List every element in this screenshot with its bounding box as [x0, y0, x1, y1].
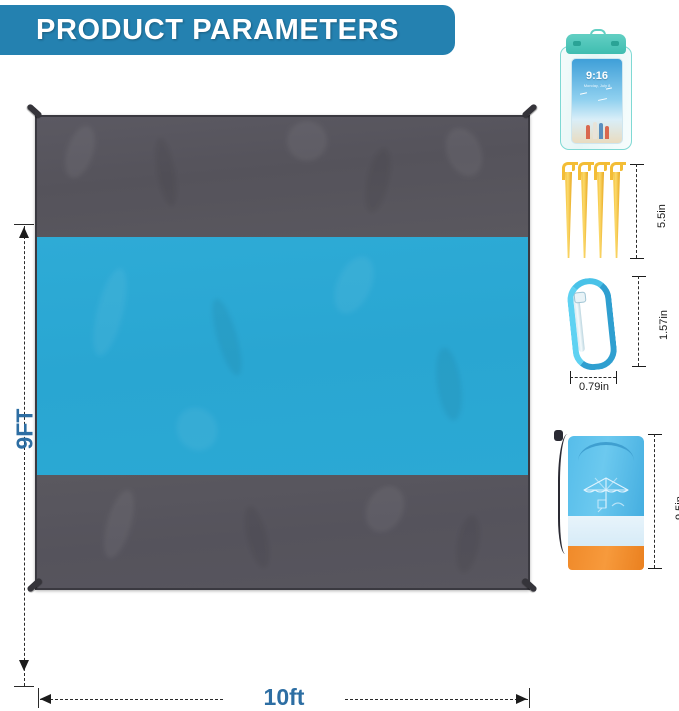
- dimension-tick-top: [14, 224, 34, 225]
- stake-hook-nub: [620, 162, 624, 171]
- dimension-cap-top: [630, 164, 644, 165]
- ground-stakes-group: 5.5in: [556, 162, 674, 262]
- arrow-down-icon: [19, 660, 29, 671]
- phone-screen: 9:16 Monday, July 8: [571, 58, 623, 144]
- bag-shoulder-cord: [558, 434, 582, 554]
- carabiner-height-label: 1.57in: [658, 310, 670, 340]
- stake-shaft: [613, 172, 620, 258]
- dimension-tick-left: [38, 688, 39, 708]
- dimension-line-vertical: [638, 276, 639, 366]
- beach-blanket-illustration: [35, 115, 530, 590]
- accessory-column: 9:16 Monday, July 8: [548, 0, 679, 611]
- dimension-line-vertical: [636, 164, 637, 258]
- blanket-width-dimension: 10ft: [28, 688, 540, 710]
- dimension-cap-bottom: [648, 568, 662, 569]
- carabiner-frame: [565, 276, 618, 372]
- pouch-clasp: [566, 34, 626, 54]
- dimension-cap-top: [632, 276, 646, 277]
- dimension-cap-top: [648, 434, 662, 435]
- carabiner-width-dimension: 0.79in: [570, 372, 634, 396]
- dimension-cap-bottom: [632, 366, 646, 367]
- stake-hook-nub: [572, 162, 576, 171]
- stakes-dimension-label: 5.5in: [656, 204, 668, 228]
- carry-bag-group: 9.5in: [556, 424, 674, 584]
- stake-hook-nub: [604, 162, 608, 171]
- carabiner-screw-lock: [573, 291, 586, 303]
- dimension-tick-right: [529, 688, 530, 708]
- carabiner-group: 1.57in 0.79in: [556, 272, 674, 398]
- beach-figure: [586, 125, 590, 139]
- clasp-hole-left: [573, 41, 581, 46]
- stake-shaft: [565, 172, 572, 258]
- beach-figure: [593, 122, 597, 139]
- blanket-width-label: 10ft: [224, 684, 344, 711]
- blanket-height-dimension: 9FT: [8, 212, 42, 700]
- carry-bag-dimension: 9.5in: [648, 434, 679, 572]
- dimension-line-vertical: [24, 226, 25, 686]
- blanket-bottom-gray-band: [37, 475, 528, 590]
- blanket-middle-blue-band: [37, 237, 528, 475]
- phone-screen-date: Monday, July 8: [572, 83, 622, 88]
- waterproof-phone-pouch: 9:16 Monday, July 8: [560, 32, 632, 150]
- page-title: PRODUCT PARAMETERS: [36, 14, 399, 47]
- stake-hook-nub: [588, 162, 592, 171]
- header-banner: PRODUCT PARAMETERS: [0, 5, 455, 55]
- ground-stake: [610, 162, 623, 258]
- dimension-line-horizontal: [570, 377, 616, 378]
- stake-shaft: [597, 172, 604, 258]
- beach-figure: [599, 123, 603, 139]
- arrow-up-icon: [19, 227, 29, 238]
- carabiner-height-dimension: 1.57in: [632, 276, 676, 368]
- blanket-top-gray-band: [37, 117, 528, 237]
- blanket-figure: 9FT 10ft: [0, 100, 548, 611]
- ground-stake: [594, 162, 607, 258]
- bag-cord-toggle: [554, 430, 563, 441]
- stakes-dimension: 5.5in: [630, 164, 674, 260]
- dimension-line-vertical: [654, 434, 655, 568]
- ground-stake: [562, 162, 575, 258]
- beach-umbrella-logo-icon: [578, 474, 634, 514]
- clasp-hole-right: [611, 41, 619, 46]
- stake-shaft: [581, 172, 588, 258]
- seagull-icon: [580, 92, 587, 94]
- dimension-tick-bottom: [14, 686, 34, 687]
- blanket-height-label: 9FT: [12, 414, 39, 450]
- arrow-right-icon: [516, 694, 527, 704]
- dimension-cap-bottom: [630, 258, 644, 259]
- carabiner-width-label: 0.79in: [558, 381, 630, 393]
- arrow-left-icon: [40, 694, 51, 704]
- seagull-icon: [606, 87, 612, 89]
- carry-bag-dimension-label: 9.5in: [674, 496, 679, 520]
- ground-stake: [578, 162, 591, 258]
- beach-figure: [605, 126, 609, 139]
- phone-screen-time: 9:16: [572, 70, 622, 82]
- seagull-icon: [598, 98, 607, 101]
